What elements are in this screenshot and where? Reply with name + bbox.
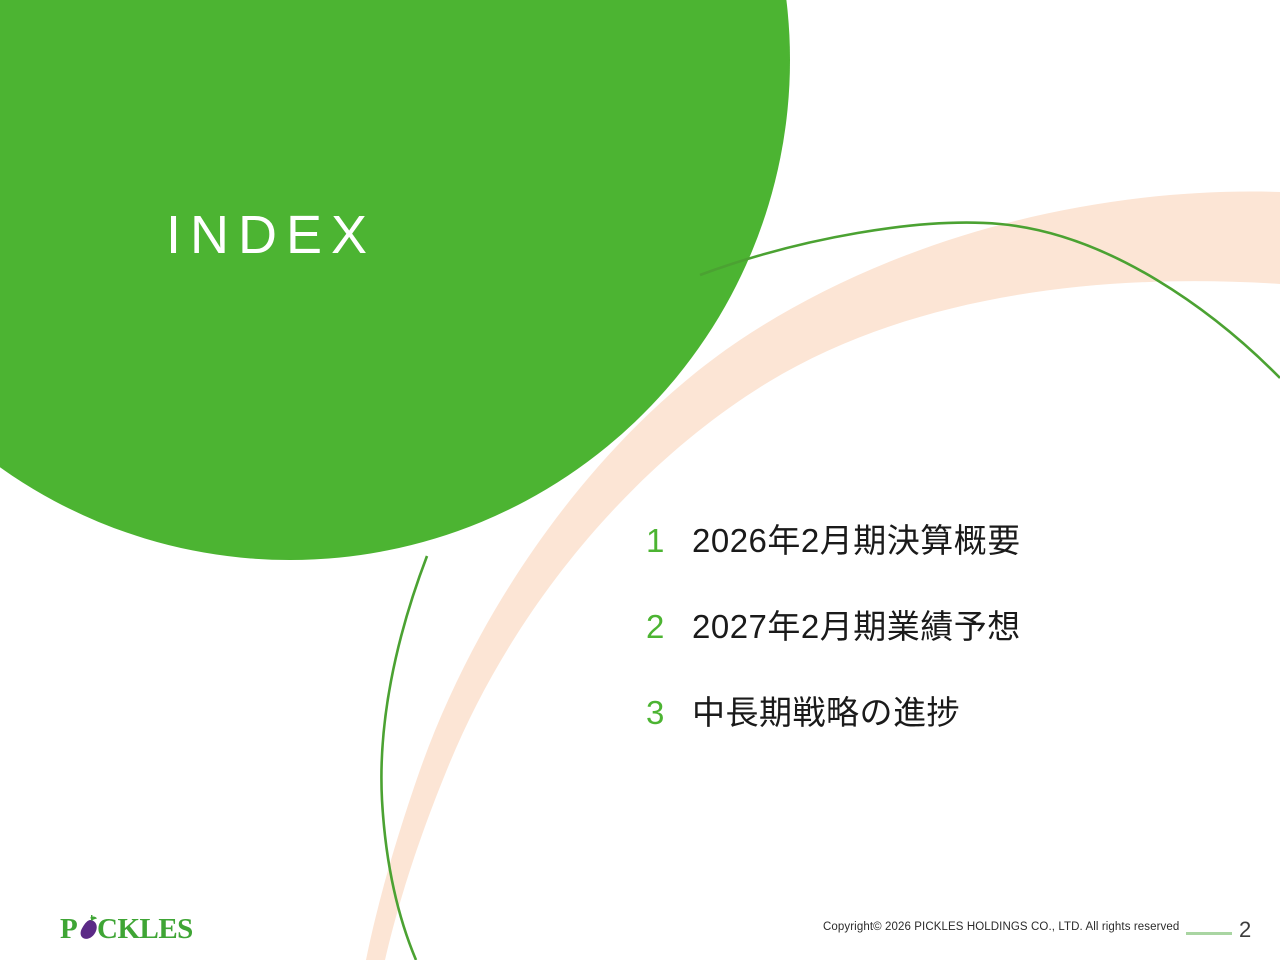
background-artwork [0,0,1280,960]
index-item-label: 2027年2月期業績予想 [692,610,1021,643]
index-item-1[interactable]: 1 2026年2月期決算概要 [646,524,1166,610]
page-title: INDEX [166,208,376,262]
logo-wordmark-right: CKLES [97,913,193,945]
logo-wordmark-left: P [60,913,78,945]
slide-index: INDEX 1 2026年2月期決算概要 2 2027年2月期業績予想 3 中長… [0,0,1280,960]
index-item-number: 3 [646,696,692,729]
index-list: 1 2026年2月期決算概要 2 2027年2月期業績予想 3 中長期戦略の進捗 [646,524,1166,782]
index-item-2[interactable]: 2 2027年2月期業績予想 [646,610,1166,696]
index-item-number: 1 [646,524,692,557]
index-item-label: 2026年2月期決算概要 [692,524,1021,557]
page-number: 2 [1239,919,1251,941]
footer-copyright: Copyright© 2026 PICKLES HOLDINGS CO., LT… [823,921,1179,933]
green-circle-shape [0,0,790,560]
footer-divider [1186,932,1232,935]
index-item-label: 中長期戦略の進捗 [692,696,960,729]
index-item-number: 2 [646,610,692,643]
eggplant-icon [81,915,97,939]
index-item-3[interactable]: 3 中長期戦略の進捗 [646,696,1166,782]
pickles-logo: P CKLES [60,909,200,947]
